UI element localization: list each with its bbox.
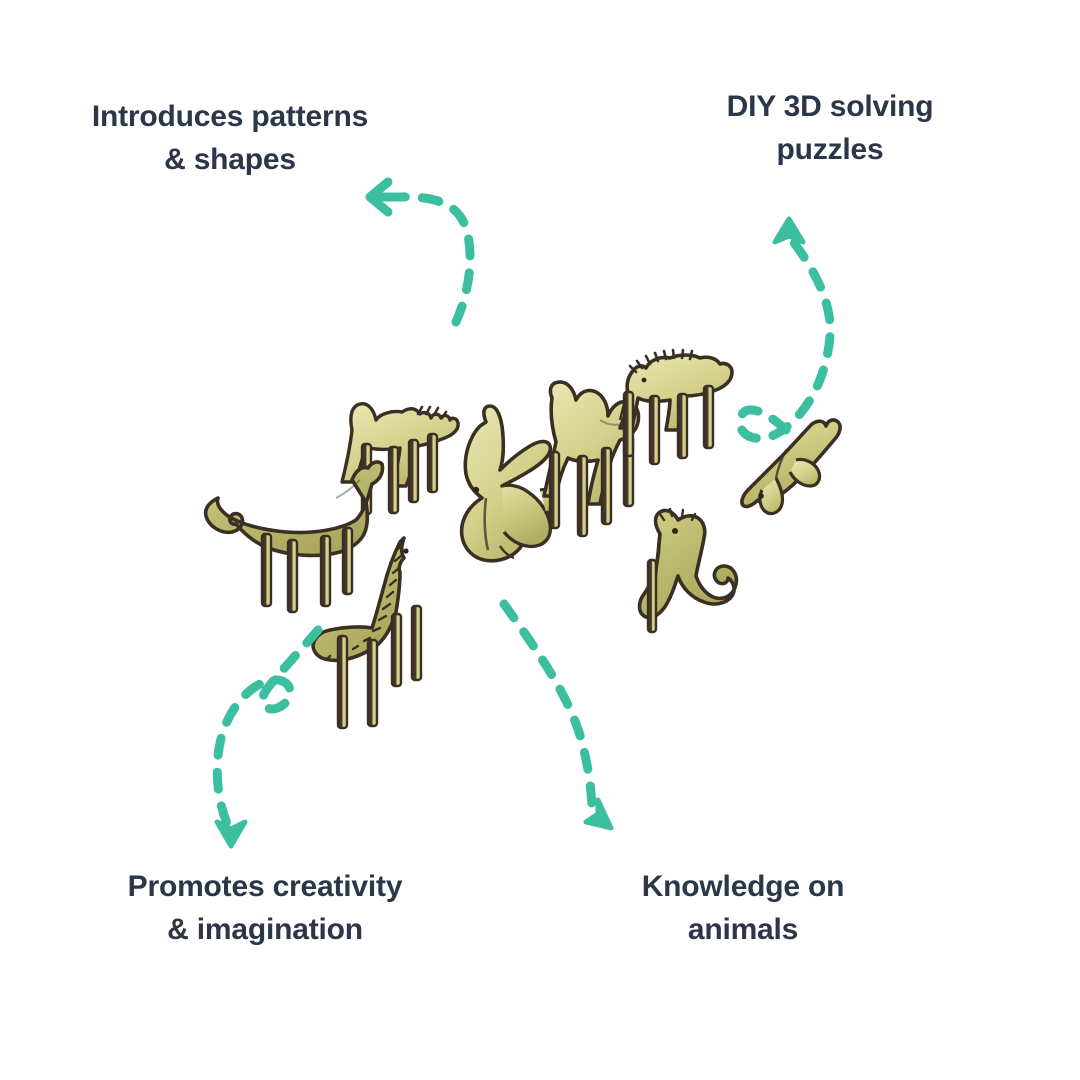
feature-label-promotes-creativity: Promotes creativity & imagination [75, 866, 455, 951]
feature-label-diy-3d-solving-puzzles: DIY 3D solving puzzles [640, 86, 1020, 171]
feature-label-knowledge-on-animals: Knowledge on animals [553, 866, 933, 951]
feature-label-introduces-patterns: Introduces patterns & shapes [40, 96, 420, 181]
infographic-canvas: Introduces patterns & shapes DIY 3D solv… [0, 0, 1080, 1080]
arrow-to-top-right [740, 219, 830, 438]
arrow-to-top-left [370, 182, 470, 322]
arrow-to-bottom-left [217, 630, 318, 846]
arrow-to-bottom-right [504, 604, 611, 828]
